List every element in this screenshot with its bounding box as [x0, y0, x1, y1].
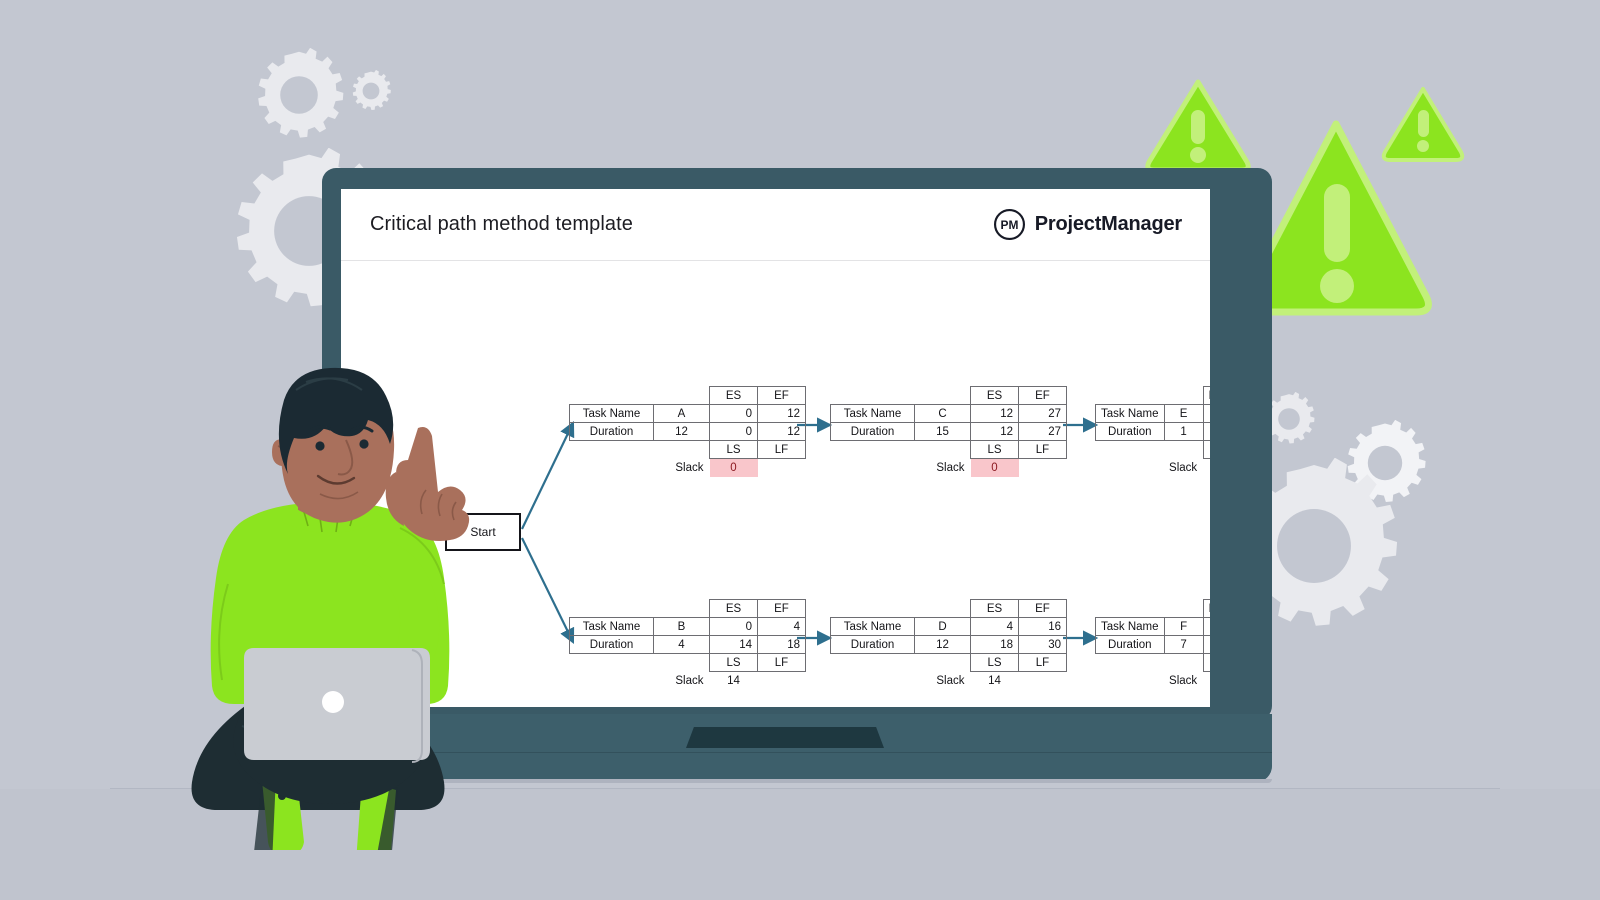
- node-esef-header-row: ES EF: [831, 387, 1067, 405]
- person-illustration: [150, 360, 510, 850]
- duration-label: Duration: [1096, 423, 1165, 441]
- node-table: ES EF Task Name D 4 16 Duration 12 18 30: [830, 599, 1067, 690]
- spacer-cell: [1096, 672, 1165, 690]
- es-value: [1203, 405, 1210, 423]
- node-esef-header-row: ES EF: [570, 600, 806, 618]
- cpm-node-d[interactable]: ES EF Task Name D 4 16 Duration 12 18 30: [830, 599, 1067, 690]
- task-name-label: Task Name: [570, 618, 654, 636]
- duration-label: Duration: [831, 423, 915, 441]
- node-taskname-row: Task Name D 4 16: [831, 618, 1067, 636]
- spacer-cell: [915, 654, 971, 672]
- ef-value: 27: [1019, 405, 1067, 423]
- lf-value: 30: [1019, 636, 1067, 654]
- duration-label: Duration: [1096, 636, 1165, 654]
- slack-label: Slack: [1164, 672, 1203, 690]
- ef-header: EF: [758, 600, 806, 618]
- duration-value: 12: [654, 423, 710, 441]
- es-value: [1203, 618, 1210, 636]
- spacer-cell: [831, 654, 915, 672]
- ef-value: 4: [758, 618, 806, 636]
- node-duration-row: Duration 4 14 18: [570, 636, 806, 654]
- ls-value: [1203, 423, 1210, 441]
- slack-label: Slack: [915, 672, 971, 690]
- node-duration-row: Duration 7: [1096, 636, 1211, 654]
- ef-header: EF: [1019, 387, 1067, 405]
- node-slack-row: Slack: [1096, 672, 1211, 690]
- spacer-cell: [831, 600, 915, 618]
- duration-label: Duration: [570, 423, 654, 441]
- spacer-cell: [1164, 441, 1203, 459]
- spacer-cell: [915, 600, 971, 618]
- spacer-cell: [654, 441, 710, 459]
- es-header: ES: [1203, 600, 1210, 618]
- lf-header: LF: [1019, 441, 1067, 459]
- slack-label: Slack: [654, 459, 710, 477]
- task-name-value: C: [915, 405, 971, 423]
- gear-icon: [350, 70, 392, 112]
- lf-header: LF: [1019, 654, 1067, 672]
- ls-value: 18: [971, 636, 1019, 654]
- ef-value: 12: [758, 405, 806, 423]
- node-taskname-row: Task Name C 12 27: [831, 405, 1067, 423]
- duration-value: 1: [1164, 423, 1203, 441]
- node-lslf-header-row: LS LF: [831, 654, 1067, 672]
- task-name-label: Task Name: [831, 405, 915, 423]
- node-table: ES EF Task Name F Duration 7: [1095, 599, 1210, 690]
- slack-value: 14: [971, 672, 1019, 690]
- node-esef-header-row: ES EF: [1096, 387, 1211, 405]
- node-esef-header-row: ES EF: [831, 600, 1067, 618]
- duration-value: 15: [915, 423, 971, 441]
- cpm-node-f[interactable]: ES EF Task Name F Duration 7: [1095, 599, 1210, 690]
- pm-circle-logo-icon: PM: [993, 208, 1026, 241]
- spacer-cell: [1096, 654, 1165, 672]
- ef-header: EF: [1019, 600, 1067, 618]
- spacer-cell: [654, 600, 710, 618]
- task-name-value: D: [915, 618, 971, 636]
- cpm-node-c[interactable]: ES EF Task Name C 12 27 Duration 15 12 2…: [830, 386, 1067, 477]
- spacer-cell: [1019, 459, 1067, 477]
- gear-icon: [252, 48, 346, 142]
- node-duration-row: Duration 1: [1096, 423, 1211, 441]
- cpm-node-b[interactable]: ES EF Task Name B 0 4 Duration 4 14 18: [569, 599, 806, 690]
- node-table: ES EF Task Name C 12 27 Duration 15 12 2…: [830, 386, 1067, 477]
- spacer-cell: [915, 441, 971, 459]
- ls-value: 0: [710, 423, 758, 441]
- spacer-cell: [831, 459, 915, 477]
- node-slack-row: Slack 14: [570, 672, 806, 690]
- slack-label: Slack: [1164, 459, 1203, 477]
- node-duration-row: Duration 15 12 27: [831, 423, 1067, 441]
- spacer-cell: [758, 672, 806, 690]
- spacer-cell: [570, 672, 654, 690]
- node-lslf-header-row: LS LF: [1096, 654, 1211, 672]
- slack-label: Slack: [915, 459, 971, 477]
- page-title: Critical path method template: [370, 213, 633, 236]
- node-taskname-row: Task Name E: [1096, 405, 1211, 423]
- brand-name: ProjectManager: [1035, 213, 1182, 236]
- es-value: 4: [971, 618, 1019, 636]
- spacer-cell: [570, 459, 654, 477]
- spacer-cell: [831, 387, 915, 405]
- node-taskname-row: Task Name B 0 4: [570, 618, 806, 636]
- task-name-value: B: [654, 618, 710, 636]
- task-name-label: Task Name: [1096, 618, 1165, 636]
- spacer-cell: [1096, 387, 1165, 405]
- node-lslf-header-row: LS LF: [570, 654, 806, 672]
- lf-header: LF: [758, 654, 806, 672]
- node-duration-row: Duration 12 18 30: [831, 636, 1067, 654]
- spacer-cell: [1096, 441, 1165, 459]
- task-name-value: E: [1164, 405, 1203, 423]
- es-value: 0: [710, 618, 758, 636]
- brand-logo: PM ProjectManager: [993, 208, 1182, 241]
- cpm-node-a[interactable]: ES EF Task Name A 0 12 Duration 12 0 12: [569, 386, 806, 477]
- es-header: ES: [710, 600, 758, 618]
- spacer-cell: [1164, 654, 1203, 672]
- ls-header: LS: [1203, 654, 1210, 672]
- ef-value: 16: [1019, 618, 1067, 636]
- node-taskname-row: Task Name F: [1096, 618, 1211, 636]
- laptop-trackpad-notch: [686, 727, 884, 748]
- ls-header: LS: [971, 441, 1019, 459]
- spacer-cell: [831, 672, 915, 690]
- duration-label: Duration: [831, 636, 915, 654]
- spacer-cell: [758, 459, 806, 477]
- task-name-label: Task Name: [831, 618, 915, 636]
- lf-value: 27: [1019, 423, 1067, 441]
- node-esef-header-row: ES EF: [1096, 600, 1211, 618]
- duration-value: 4: [654, 636, 710, 654]
- ls-header: LS: [710, 654, 758, 672]
- es-header: ES: [710, 387, 758, 405]
- warning-triangle-icon: [1380, 84, 1466, 164]
- spacer-cell: [831, 441, 915, 459]
- slack-value: 0: [971, 459, 1019, 477]
- spacer-cell: [570, 600, 654, 618]
- task-name-label: Task Name: [1096, 405, 1165, 423]
- spacer-cell: [1164, 387, 1203, 405]
- node-slack-row: Slack 0: [831, 459, 1067, 477]
- es-value: 0: [710, 405, 758, 423]
- task-name-value: A: [654, 405, 710, 423]
- es-value: 12: [971, 405, 1019, 423]
- node-slack-row: Slack 14: [831, 672, 1067, 690]
- duration-value: 12: [915, 636, 971, 654]
- document-header: Critical path method template PM Project…: [341, 189, 1210, 261]
- es-header: ES: [1203, 387, 1210, 405]
- node-duration-row: Duration 12 0 12: [570, 423, 806, 441]
- slack-label: Slack: [654, 672, 710, 690]
- node-slack-row: Slack: [1096, 459, 1211, 477]
- spacer-cell: [1096, 600, 1165, 618]
- spacer-cell: [1164, 600, 1203, 618]
- cpm-node-e[interactable]: ES EF Task Name E Duration 1: [1095, 386, 1210, 477]
- ls-header: LS: [1203, 441, 1210, 459]
- node-esef-header-row: ES EF: [570, 387, 806, 405]
- slack-value: [1203, 672, 1210, 690]
- node-lslf-header-row: LS LF: [1096, 441, 1211, 459]
- lf-value: 18: [758, 636, 806, 654]
- spacer-cell: [570, 387, 654, 405]
- es-header: ES: [971, 600, 1019, 618]
- spacer-cell: [654, 654, 710, 672]
- node-table: ES EF Task Name B 0 4 Duration 4 14 18: [569, 599, 806, 690]
- ls-value: 14: [710, 636, 758, 654]
- duration-value: 7: [1164, 636, 1203, 654]
- node-slack-row: Slack 0: [570, 459, 806, 477]
- duration-label: Duration: [570, 636, 654, 654]
- es-header: ES: [971, 387, 1019, 405]
- slack-value: 14: [710, 672, 758, 690]
- node-table: ES EF Task Name E Duration 1: [1095, 386, 1210, 477]
- task-name-label: Task Name: [570, 405, 654, 423]
- spacer-cell: [1019, 672, 1067, 690]
- slack-value: [1203, 459, 1210, 477]
- node-taskname-row: Task Name A 0 12: [570, 405, 806, 423]
- spacer-cell: [915, 387, 971, 405]
- ls-value: [1203, 636, 1210, 654]
- spacer-cell: [654, 387, 710, 405]
- spacer-cell: [1096, 459, 1165, 477]
- lf-value: 12: [758, 423, 806, 441]
- slack-value: 0: [710, 459, 758, 477]
- svg-text:PM: PM: [1000, 218, 1018, 232]
- lf-header: LF: [758, 441, 806, 459]
- ls-value: 12: [971, 423, 1019, 441]
- ef-header: EF: [758, 387, 806, 405]
- node-table: ES EF Task Name A 0 12 Duration 12 0 12: [569, 386, 806, 477]
- node-lslf-header-row: LS LF: [831, 441, 1067, 459]
- poster-stage: Critical path method template PM Project…: [0, 0, 1600, 900]
- node-lslf-header-row: LS LF: [570, 441, 806, 459]
- spacer-cell: [570, 441, 654, 459]
- ls-header: LS: [971, 654, 1019, 672]
- ls-header: LS: [710, 441, 758, 459]
- spacer-cell: [570, 654, 654, 672]
- task-name-value: F: [1164, 618, 1203, 636]
